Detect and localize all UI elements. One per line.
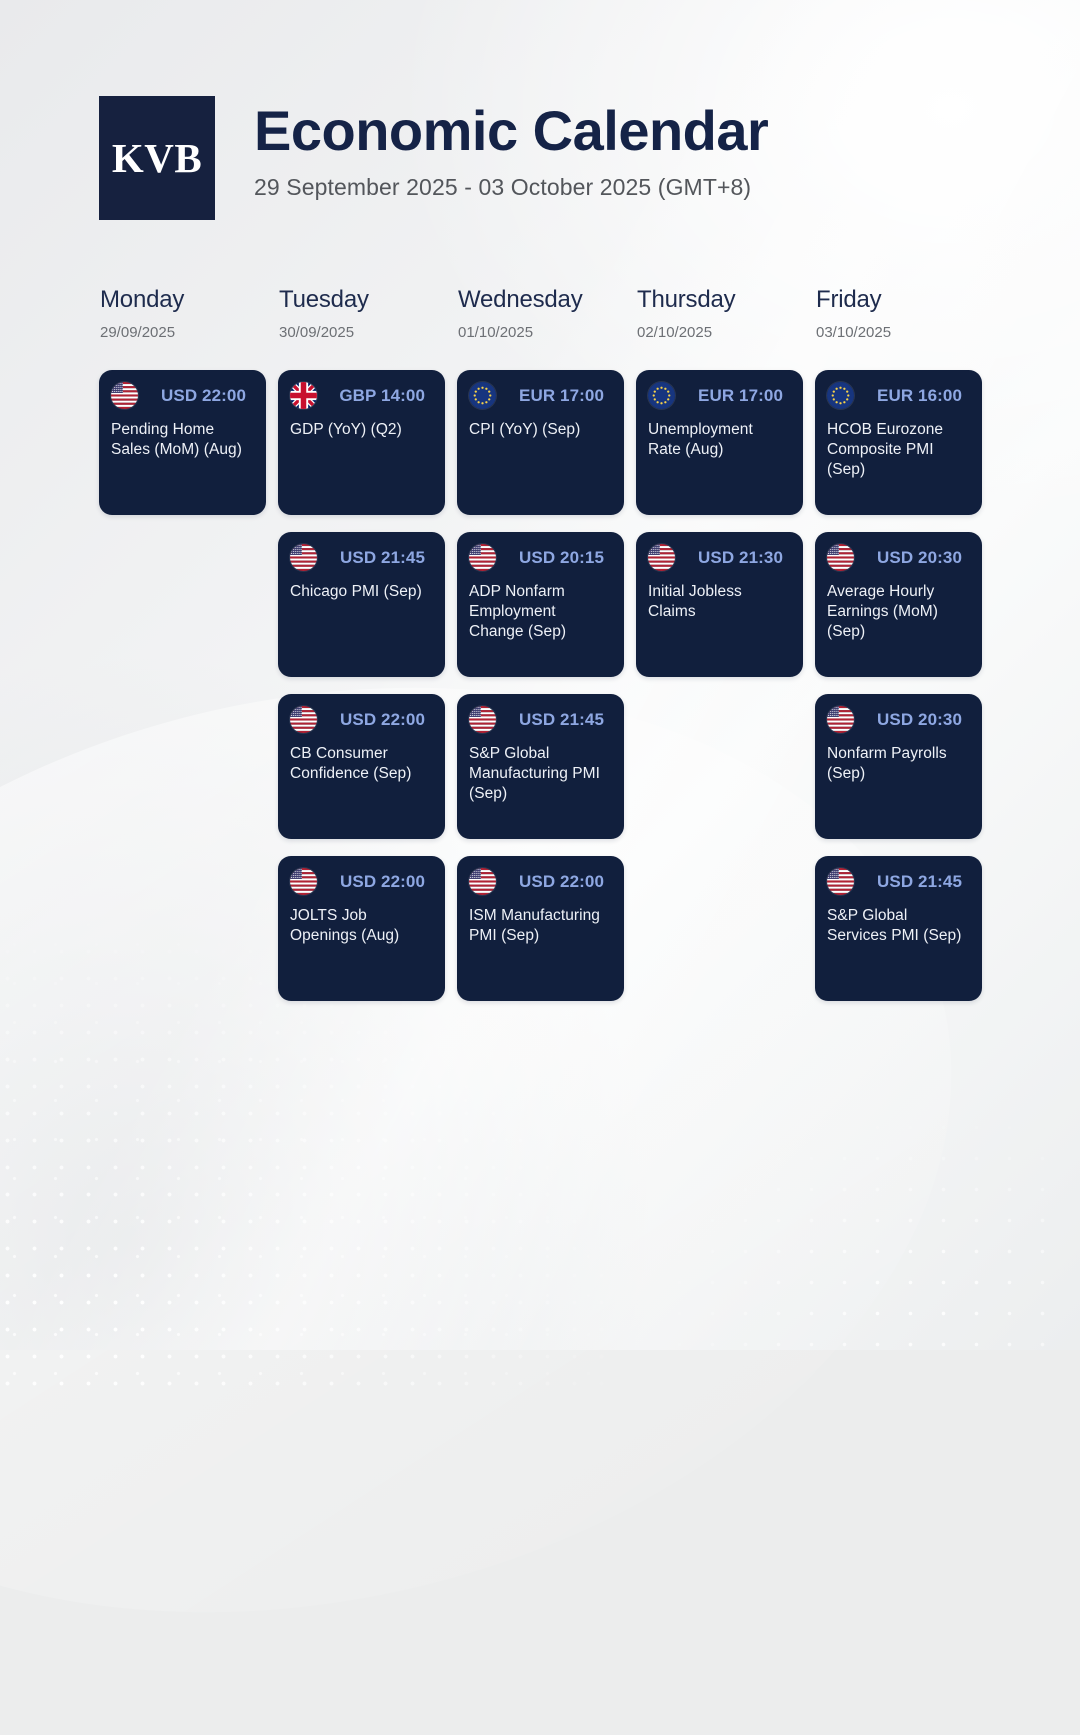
event-currency-time: EUR 17:00 [519, 386, 611, 406]
event-card-header: USD 21:45 [290, 544, 432, 571]
event-name: ISM Manufacturing PMI (Sep) [469, 906, 611, 946]
event-name: GDP (YoY) (Q2) [290, 420, 432, 440]
event-card[interactable]: USD 21:45S&P Global Services PMI (Sep) [815, 856, 982, 1001]
event-currency-time: EUR 17:00 [698, 386, 790, 406]
event-currency-time: USD 20:15 [519, 548, 611, 568]
event-card[interactable]: USD 22:00ISM Manufacturing PMI (Sep) [457, 856, 624, 1001]
event-name: JOLTS Job Openings (Aug) [290, 906, 432, 946]
event-currency-time: USD 22:00 [340, 872, 432, 892]
event-card[interactable]: USD 20:30Nonfarm Payrolls (Sep) [815, 694, 982, 839]
day-header-thursday: Thursday02/10/2025 [636, 286, 803, 341]
day-name: Friday [816, 286, 982, 314]
event-name: Chicago PMI (Sep) [290, 582, 432, 602]
day-header-monday: Monday29/09/2025 [99, 286, 266, 341]
event-card[interactable]: USD 22:00Pending Home Sales (MoM) (Aug) [99, 370, 266, 515]
event-card-header: USD 22:00 [290, 706, 432, 733]
event-card-header: USD 21:45 [469, 706, 611, 733]
event-currency-time: USD 21:45 [340, 548, 432, 568]
event-card-header: USD 20:30 [827, 544, 969, 571]
event-name: Pending Home Sales (MoM) (Aug) [111, 420, 253, 460]
us-flag-icon [469, 706, 496, 733]
event-card[interactable]: EUR 16:00HCOB Eurozone Composite PMI (Se… [815, 370, 982, 515]
day-column-monday: USD 22:00Pending Home Sales (MoM) (Aug) [99, 370, 266, 1018]
day-header-tuesday: Tuesday30/09/2025 [278, 286, 445, 341]
us-flag-icon [827, 544, 854, 571]
event-card-header: USD 20:15 [469, 544, 611, 571]
event-card-header: EUR 16:00 [827, 382, 969, 409]
event-name: ADP Nonfarm Employment Change (Sep) [469, 582, 611, 642]
kvb-logo-text: KVB [112, 134, 202, 182]
event-name: Average Hourly Earnings (MoM) (Sep) [827, 582, 969, 642]
day-date: 30/09/2025 [279, 324, 445, 341]
us-flag-icon [827, 706, 854, 733]
event-card[interactable]: GBP 14:00GDP (YoY) (Q2) [278, 370, 445, 515]
event-name: CB Consumer Confidence (Sep) [290, 744, 432, 784]
event-card-header: USD 20:30 [827, 706, 969, 733]
page-title: Economic Calendar [254, 102, 768, 161]
day-column-thursday: EUR 17:00Unemployment Rate (Aug)USD 21:3… [636, 370, 803, 1018]
empty-slot [636, 856, 803, 1001]
us-flag-icon [290, 544, 317, 571]
event-card[interactable]: USD 22:00JOLTS Job Openings (Aug) [278, 856, 445, 1001]
event-card[interactable]: EUR 17:00CPI (YoY) (Sep) [457, 370, 624, 515]
event-name: HCOB Eurozone Composite PMI (Sep) [827, 420, 969, 480]
calendar-grid: Monday29/09/2025Tuesday30/09/2025Wednesd… [99, 286, 984, 1018]
day-header-wednesday: Wednesday01/10/2025 [457, 286, 624, 341]
event-currency-time: USD 20:30 [877, 548, 969, 568]
event-name: S&P Global Services PMI (Sep) [827, 906, 969, 946]
gb-flag-icon [290, 382, 317, 409]
date-range-subtitle: 29 September 2025 - 03 October 2025 (GMT… [254, 174, 768, 201]
day-column-tuesday: GBP 14:00GDP (YoY) (Q2)USD 21:45Chicago … [278, 370, 445, 1018]
us-flag-icon [648, 544, 675, 571]
event-card[interactable]: USD 20:30Average Hourly Earnings (MoM) (… [815, 532, 982, 677]
event-card-header: USD 22:00 [469, 868, 611, 895]
background-dot-texture-secondary [630, 1050, 1050, 1350]
empty-slot [636, 694, 803, 839]
eu-flag-icon [648, 382, 675, 409]
event-card-header: USD 22:00 [111, 382, 253, 409]
event-card-header: EUR 17:00 [648, 382, 790, 409]
day-header-friday: Friday03/10/2025 [815, 286, 982, 341]
day-date: 03/10/2025 [816, 324, 982, 341]
event-card[interactable]: USD 22:00CB Consumer Confidence (Sep) [278, 694, 445, 839]
event-name: Initial Jobless Claims [648, 582, 790, 622]
day-column-wednesday: EUR 17:00CPI (YoY) (Sep)USD 20:15ADP Non… [457, 370, 624, 1018]
event-currency-time: USD 22:00 [519, 872, 611, 892]
day-name: Thursday [637, 286, 803, 314]
event-currency-time: USD 22:00 [161, 386, 253, 406]
event-card-header: GBP 14:00 [290, 382, 432, 409]
us-flag-icon [111, 382, 138, 409]
event-card[interactable]: EUR 17:00Unemployment Rate (Aug) [636, 370, 803, 515]
empty-slot [99, 856, 266, 1001]
header-text-block: Economic Calendar 29 September 2025 - 03… [254, 96, 768, 201]
event-name: CPI (YoY) (Sep) [469, 420, 611, 440]
event-currency-time: EUR 16:00 [877, 386, 969, 406]
event-card[interactable]: USD 21:45S&P Global Manufacturing PMI (S… [457, 694, 624, 839]
day-name: Monday [100, 286, 266, 314]
page-header: KVB Economic Calendar 29 September 2025 … [99, 96, 768, 220]
event-currency-time: USD 21:45 [519, 710, 611, 730]
event-name: Unemployment Rate (Aug) [648, 420, 790, 460]
eu-flag-icon [469, 382, 496, 409]
event-currency-time: USD 21:45 [877, 872, 969, 892]
day-name: Wednesday [458, 286, 624, 314]
us-flag-icon [469, 544, 496, 571]
event-currency-time: USD 22:00 [340, 710, 432, 730]
day-date: 02/10/2025 [637, 324, 803, 341]
us-flag-icon [827, 868, 854, 895]
event-card-header: EUR 17:00 [469, 382, 611, 409]
empty-slot [99, 694, 266, 839]
us-flag-icon [469, 868, 496, 895]
us-flag-icon [290, 868, 317, 895]
event-currency-time: USD 21:30 [698, 548, 790, 568]
event-currency-time: GBP 14:00 [339, 386, 432, 406]
kvb-logo: KVB [99, 96, 215, 220]
event-card-header: USD 21:45 [827, 868, 969, 895]
event-card[interactable]: USD 21:45Chicago PMI (Sep) [278, 532, 445, 677]
event-name: S&P Global Manufacturing PMI (Sep) [469, 744, 611, 804]
day-date: 01/10/2025 [458, 324, 624, 341]
empty-slot [99, 532, 266, 677]
us-flag-icon [290, 706, 317, 733]
eu-flag-icon [827, 382, 854, 409]
day-column-friday: EUR 16:00HCOB Eurozone Composite PMI (Se… [815, 370, 982, 1018]
event-card-header: USD 21:30 [648, 544, 790, 571]
event-card-header: USD 22:00 [290, 868, 432, 895]
event-name: Nonfarm Payrolls (Sep) [827, 744, 969, 784]
event-card[interactable]: USD 21:30Initial Jobless Claims [636, 532, 803, 677]
event-currency-time: USD 20:30 [877, 710, 969, 730]
day-name: Tuesday [279, 286, 445, 314]
event-card[interactable]: USD 20:15ADP Nonfarm Employment Change (… [457, 532, 624, 677]
day-date: 29/09/2025 [100, 324, 266, 341]
